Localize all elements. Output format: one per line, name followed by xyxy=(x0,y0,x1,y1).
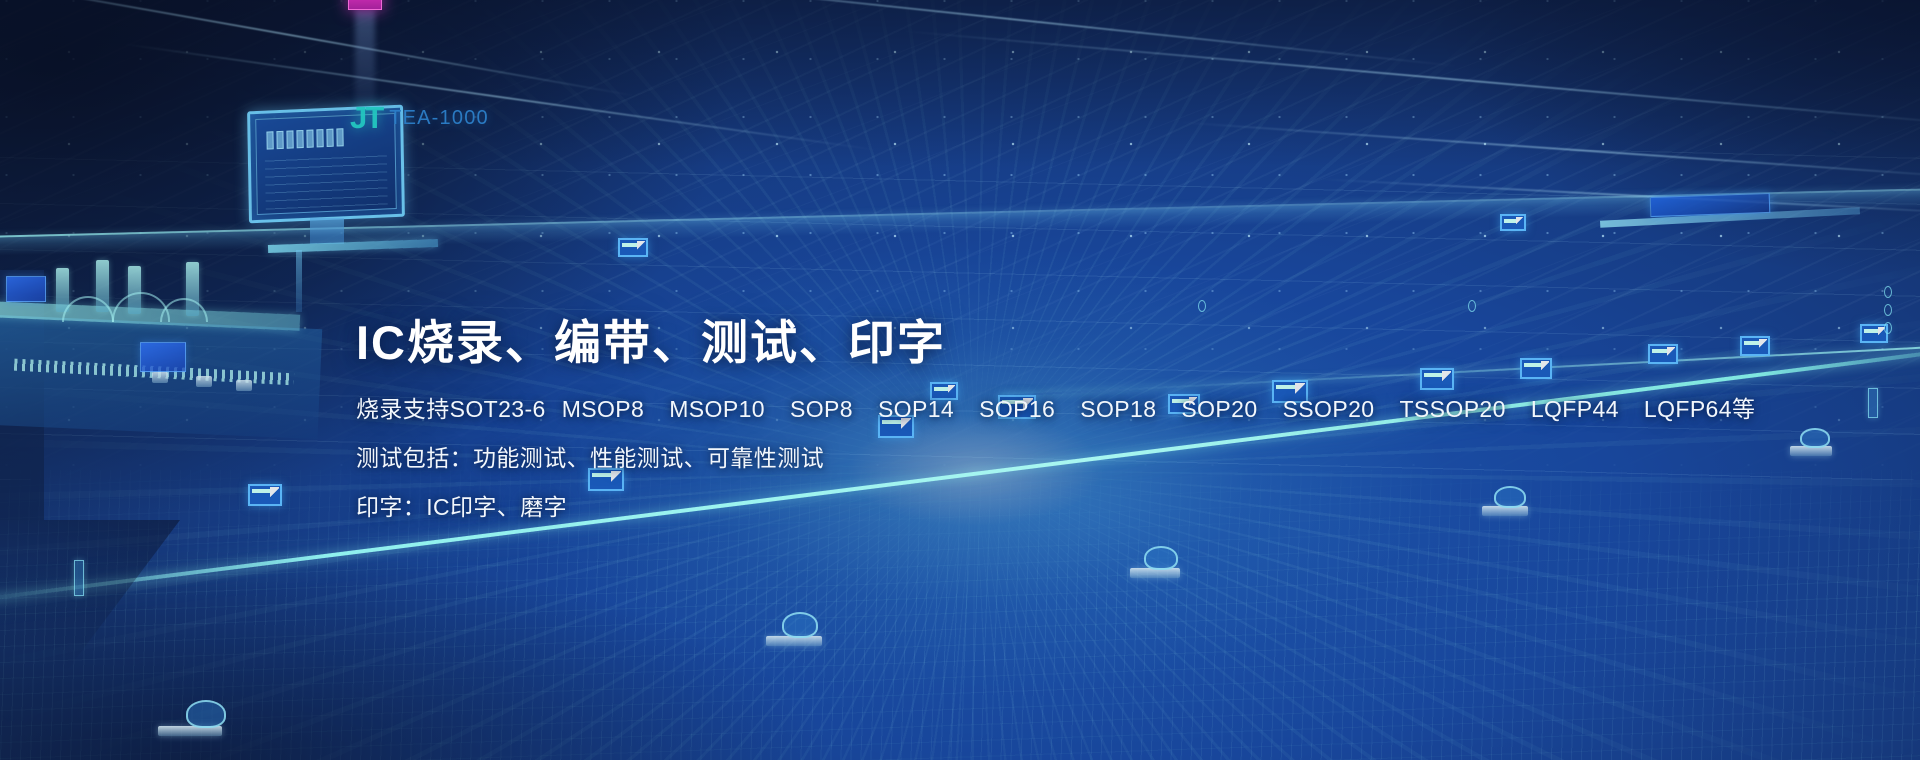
ceiling-beam xyxy=(562,0,1457,67)
package-item: SOP14 xyxy=(878,398,954,421)
burn-support-line: 烧录支持SOT23-6 MSOP8 MSOP10 SOP8 SOP14 SOP1… xyxy=(356,398,1556,421)
package-item: SOP16 xyxy=(979,398,1055,421)
control-module xyxy=(6,276,46,302)
brand-model: TEA-1000 xyxy=(389,107,489,130)
pneumatic-hose xyxy=(160,298,208,322)
package-item: TSSOP20 xyxy=(1399,398,1505,421)
sensor-indicator xyxy=(1198,300,1206,312)
monitor-stand xyxy=(310,218,344,244)
magenta-ceiling-fixture xyxy=(348,0,382,10)
sensor-indicator xyxy=(1468,300,1476,312)
sensor-indicator xyxy=(1884,304,1892,316)
chip-package-icon xyxy=(1740,336,1770,356)
burn-support-lead: 烧录支持SOT23-6 xyxy=(356,398,546,421)
package-item: SOP8 xyxy=(790,398,853,421)
tray-holder xyxy=(1800,428,1830,448)
vertical-sensor-bar xyxy=(1868,388,1878,418)
ceiling-beam xyxy=(1181,121,1920,180)
test-scope-line: 测试包括：功能测试、性能测试、可靠性测试 xyxy=(356,447,1556,470)
machine-foot xyxy=(196,376,212,387)
ic-service-hero-banner: JT TEA-1000 IC烧录、编带、测试、印字 烧录支持SOT23 xyxy=(0,0,1920,760)
hero-detail-lines: 烧录支持SOT23-6 MSOP8 MSOP10 SOP8 SOP14 SOP1… xyxy=(356,398,1556,519)
right-shelf-module xyxy=(1650,193,1771,217)
machine-brand-label: JT TEA-1000 xyxy=(350,100,489,136)
package-item: SSOP20 xyxy=(1283,398,1375,421)
screen-chip-row xyxy=(266,128,343,149)
package-item: LQFP64等 xyxy=(1644,398,1755,421)
page-title: IC烧录、编带、测试、印字 xyxy=(356,318,1556,367)
control-module xyxy=(140,342,186,372)
tray-holder xyxy=(1144,546,1178,570)
package-item: MSOP8 xyxy=(562,398,645,421)
tray-holder xyxy=(782,612,818,638)
vertical-sensor-bar xyxy=(74,560,84,596)
ceiling-beam xyxy=(0,0,635,97)
package-item: SOP20 xyxy=(1181,398,1257,421)
screen-data-rows xyxy=(265,152,388,209)
machine-foot xyxy=(236,380,252,391)
hero-copy-block: IC烧录、编带、测试、印字 烧录支持SOT23-6 MSOP8 MSOP10 S… xyxy=(356,318,1556,545)
package-list: 烧录支持SOT23-6 MSOP8 MSOP10 SOP8 SOP14 SOP1… xyxy=(356,398,1755,421)
sensor-indicator xyxy=(1884,286,1892,298)
chip-package-icon xyxy=(248,484,282,506)
monitor-support-post xyxy=(296,250,302,312)
sensor-indicator xyxy=(1884,322,1892,334)
brand-name: JT xyxy=(350,100,382,136)
marking-scope-line: 印字：IC印字、磨字 xyxy=(356,496,1556,519)
package-item: LQFP44 xyxy=(1531,398,1619,421)
chip-package-icon xyxy=(1500,214,1526,231)
tray-holder xyxy=(186,700,226,728)
ceiling-beam xyxy=(902,30,1920,128)
chip-package-icon xyxy=(1648,344,1678,364)
monitor-base-shelf xyxy=(268,239,438,253)
chip-package-icon xyxy=(618,238,648,257)
package-item: MSOP10 xyxy=(669,398,765,421)
machine-foot xyxy=(152,372,168,383)
package-item: SOP18 xyxy=(1080,398,1156,421)
